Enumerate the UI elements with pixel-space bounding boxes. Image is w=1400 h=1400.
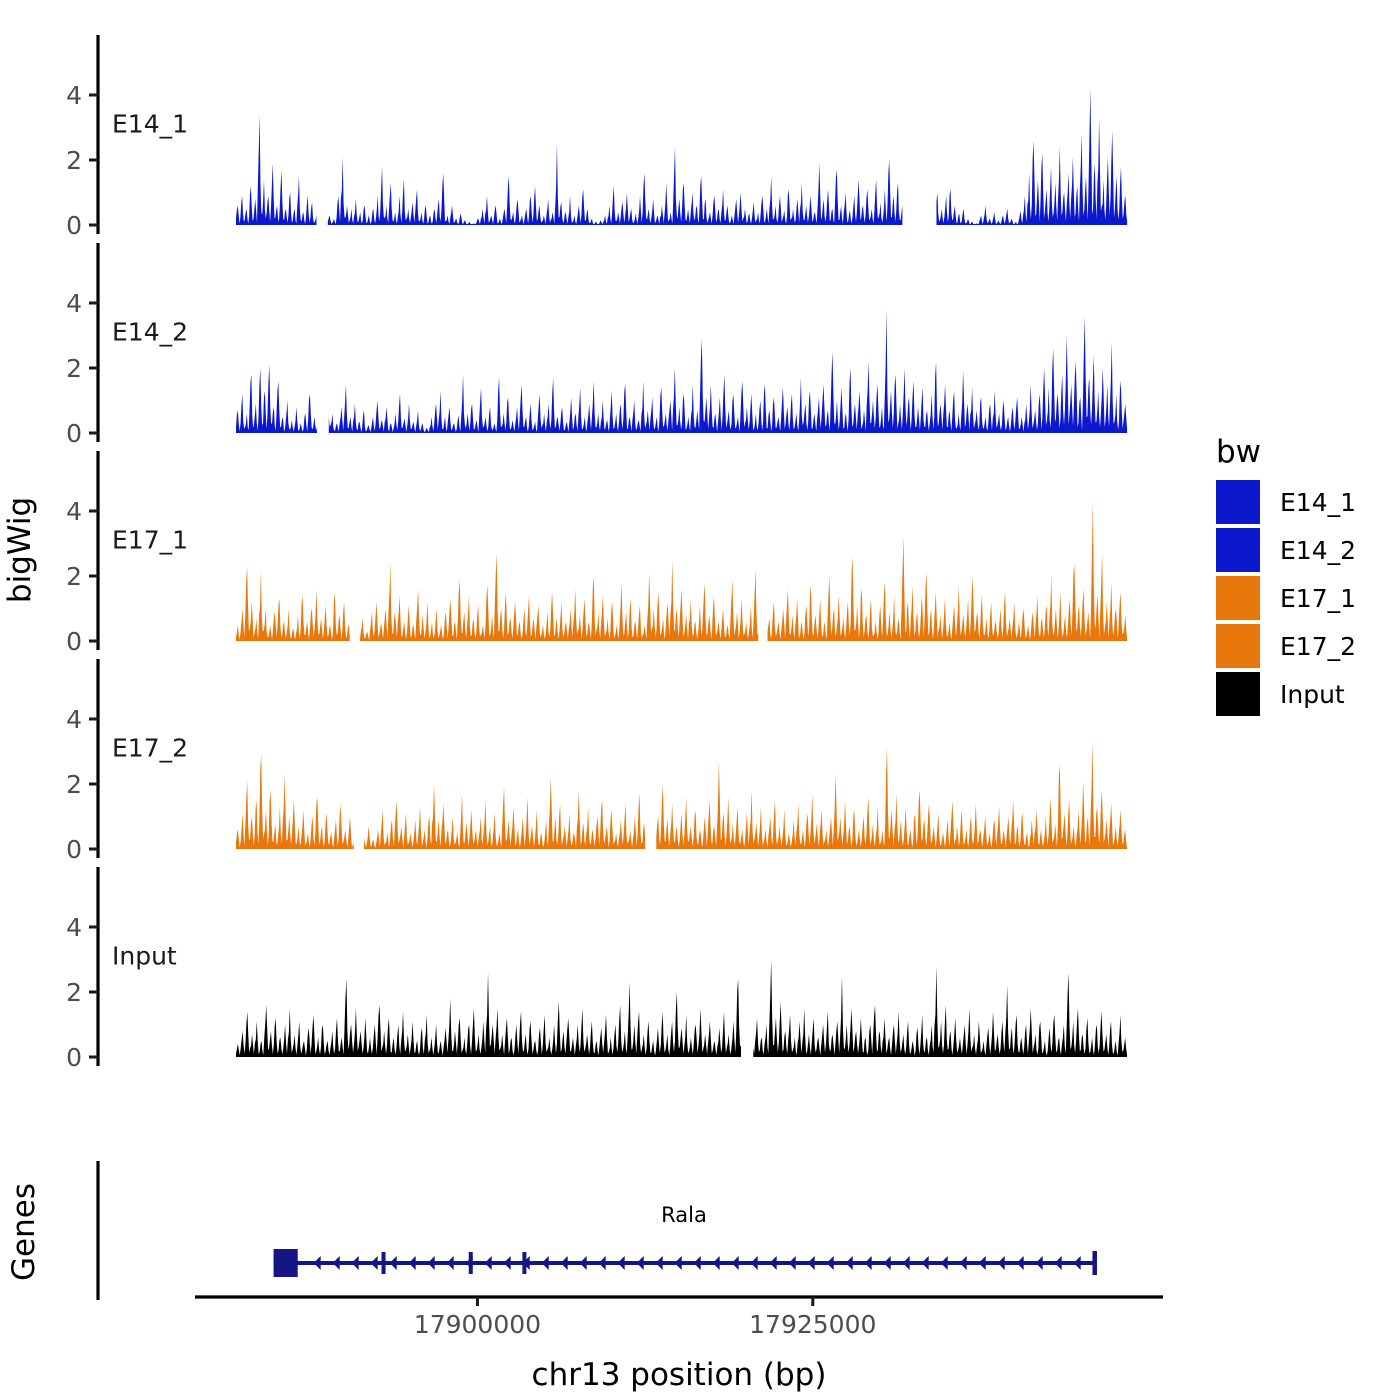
legend-label: E14_2 bbox=[1280, 536, 1356, 565]
x-tick-label: 17900000 bbox=[414, 1310, 541, 1339]
strand-arrow-icon bbox=[1074, 1256, 1081, 1270]
exon-block[interactable] bbox=[274, 1249, 298, 1277]
coverage-area bbox=[236, 115, 316, 226]
strand-arrow-icon bbox=[998, 1256, 1005, 1270]
coverage-area bbox=[753, 960, 1127, 1058]
y-tick-label: 2 bbox=[66, 562, 82, 591]
y-tick-label: 2 bbox=[66, 354, 82, 383]
legend-swatch bbox=[1216, 624, 1260, 668]
strand-arrow-icon bbox=[656, 1256, 663, 1270]
legend-title: bw bbox=[1216, 434, 1261, 470]
y-tick-label: 2 bbox=[66, 978, 82, 1007]
strand-arrow-icon bbox=[1017, 1256, 1024, 1270]
legend-item-e17-2[interactable]: E17_2 bbox=[1216, 624, 1356, 668]
legend-label: E17_1 bbox=[1280, 584, 1356, 613]
strand-arrow-icon bbox=[884, 1256, 891, 1270]
strand-arrow-icon bbox=[637, 1256, 644, 1270]
y-tick-label: 4 bbox=[66, 705, 82, 734]
strand-arrow-icon bbox=[789, 1256, 796, 1270]
facet-e14-1: 024E14_1 bbox=[66, 35, 1127, 240]
strand-arrow-icon bbox=[618, 1256, 625, 1270]
strand-arrow-icon bbox=[428, 1256, 435, 1270]
y-tick-label: 2 bbox=[66, 770, 82, 799]
coverage-area bbox=[936, 89, 1127, 226]
track-label: E14_2 bbox=[112, 317, 188, 346]
facet-genes: Rala bbox=[98, 1161, 1097, 1300]
strand-arrow-icon bbox=[390, 1256, 397, 1270]
figure-root: 024E14_1024E14_2024E17_1024E17_2024Input… bbox=[0, 0, 1400, 1400]
strand-arrow-icon bbox=[314, 1256, 321, 1270]
legend-swatch bbox=[1216, 480, 1260, 524]
strand-arrow-icon bbox=[504, 1256, 511, 1270]
legend-item-e14-1[interactable]: E14_1 bbox=[1216, 480, 1356, 524]
strand-arrow-icon bbox=[751, 1256, 758, 1270]
coverage-area bbox=[360, 553, 758, 641]
facet-e17-2: 024E17_2 bbox=[66, 659, 1127, 864]
y-tick-label: 4 bbox=[66, 913, 82, 942]
gene-name-label: Rala bbox=[661, 1203, 707, 1227]
strand-arrow-icon bbox=[941, 1256, 948, 1270]
legend-label: Input bbox=[1280, 680, 1345, 709]
strand-arrow-icon bbox=[713, 1256, 720, 1270]
legend-label: E17_2 bbox=[1280, 632, 1356, 661]
exon-tick bbox=[469, 1252, 473, 1274]
strand-arrow-icon bbox=[599, 1256, 606, 1270]
coverage-area bbox=[236, 973, 741, 1058]
coverage-area bbox=[236, 755, 354, 849]
coverage-area bbox=[656, 742, 1127, 849]
coverage-area bbox=[329, 310, 1127, 434]
strand-arrow-icon bbox=[447, 1256, 454, 1270]
legend: bwE14_1E14_2E17_1E17_2Input bbox=[1216, 434, 1356, 716]
y-tick-label: 4 bbox=[66, 81, 82, 110]
x-axis-title: chr13 position (bp) bbox=[532, 1357, 827, 1393]
coverage-area bbox=[364, 778, 645, 850]
strand-arrow-icon bbox=[409, 1256, 416, 1270]
facet-input: 024Input bbox=[66, 867, 1127, 1072]
y-tick-label: 0 bbox=[66, 419, 82, 448]
legend-swatch bbox=[1216, 528, 1260, 572]
y-tick-label: 4 bbox=[66, 497, 82, 526]
legend-item-input[interactable]: Input bbox=[1216, 672, 1345, 716]
track-label: Input bbox=[112, 941, 177, 970]
strand-arrow-icon bbox=[827, 1256, 834, 1270]
coverage-area bbox=[236, 566, 350, 641]
strand-arrow-icon bbox=[865, 1256, 872, 1270]
legend-item-e17-1[interactable]: E17_1 bbox=[1216, 576, 1356, 620]
exon-tick bbox=[382, 1252, 386, 1274]
strand-arrow-icon bbox=[694, 1256, 701, 1270]
strand-arrow-icon bbox=[352, 1256, 359, 1270]
y-tick-label: 0 bbox=[66, 627, 82, 656]
strand-arrow-icon bbox=[960, 1256, 967, 1270]
legend-item-e14-2[interactable]: E14_2 bbox=[1216, 528, 1356, 572]
strand-arrow-icon bbox=[846, 1256, 853, 1270]
strand-arrow-icon bbox=[770, 1256, 777, 1270]
strand-arrow-icon bbox=[808, 1256, 815, 1270]
genes-axis-title: Genes bbox=[6, 1183, 42, 1281]
facet-e14-2: 024E14_2 bbox=[66, 243, 1127, 448]
strand-arrow-icon bbox=[1036, 1256, 1043, 1270]
x-tick-label: 17925000 bbox=[749, 1310, 876, 1339]
strand-arrow-icon bbox=[675, 1256, 682, 1270]
strand-arrow-icon bbox=[485, 1256, 492, 1270]
strand-arrow-icon bbox=[333, 1256, 340, 1270]
strand-arrow-icon bbox=[561, 1256, 568, 1270]
gene-end-tick bbox=[1092, 1251, 1097, 1275]
y-tick-label: 0 bbox=[66, 1043, 82, 1072]
strand-arrow-icon bbox=[903, 1256, 910, 1270]
coverage-area bbox=[328, 144, 903, 225]
strand-arrow-icon bbox=[580, 1256, 587, 1270]
exon-tick bbox=[522, 1252, 526, 1274]
coverage-area bbox=[236, 365, 317, 433]
strand-arrow-icon bbox=[542, 1256, 549, 1270]
strand-arrow-icon bbox=[371, 1256, 378, 1270]
x-axis: 1790000017925000chr13 position (bp) bbox=[195, 1297, 1163, 1393]
legend-swatch bbox=[1216, 576, 1260, 620]
track-label: E17_2 bbox=[112, 733, 188, 762]
strand-arrow-icon bbox=[979, 1256, 986, 1270]
coverage-area bbox=[768, 501, 1128, 641]
track-label: E14_1 bbox=[112, 109, 188, 138]
legend-label: E14_1 bbox=[1280, 488, 1356, 517]
strand-arrow-icon bbox=[922, 1256, 929, 1270]
strand-arrow-icon bbox=[732, 1256, 739, 1270]
genome-browser-plot: 024E14_1024E14_2024E17_1024E17_2024Input… bbox=[0, 0, 1400, 1400]
y-tick-label: 2 bbox=[66, 146, 82, 175]
y-tick-label: 4 bbox=[66, 289, 82, 318]
track-label: E17_1 bbox=[112, 525, 188, 554]
y-tick-label: 0 bbox=[66, 835, 82, 864]
facet-e17-1: 024E17_1 bbox=[66, 451, 1127, 656]
y-tick-label: 0 bbox=[66, 211, 82, 240]
y-axis-title: bigWig bbox=[2, 497, 38, 603]
strand-arrow-icon bbox=[1055, 1256, 1062, 1270]
legend-swatch bbox=[1216, 672, 1260, 716]
